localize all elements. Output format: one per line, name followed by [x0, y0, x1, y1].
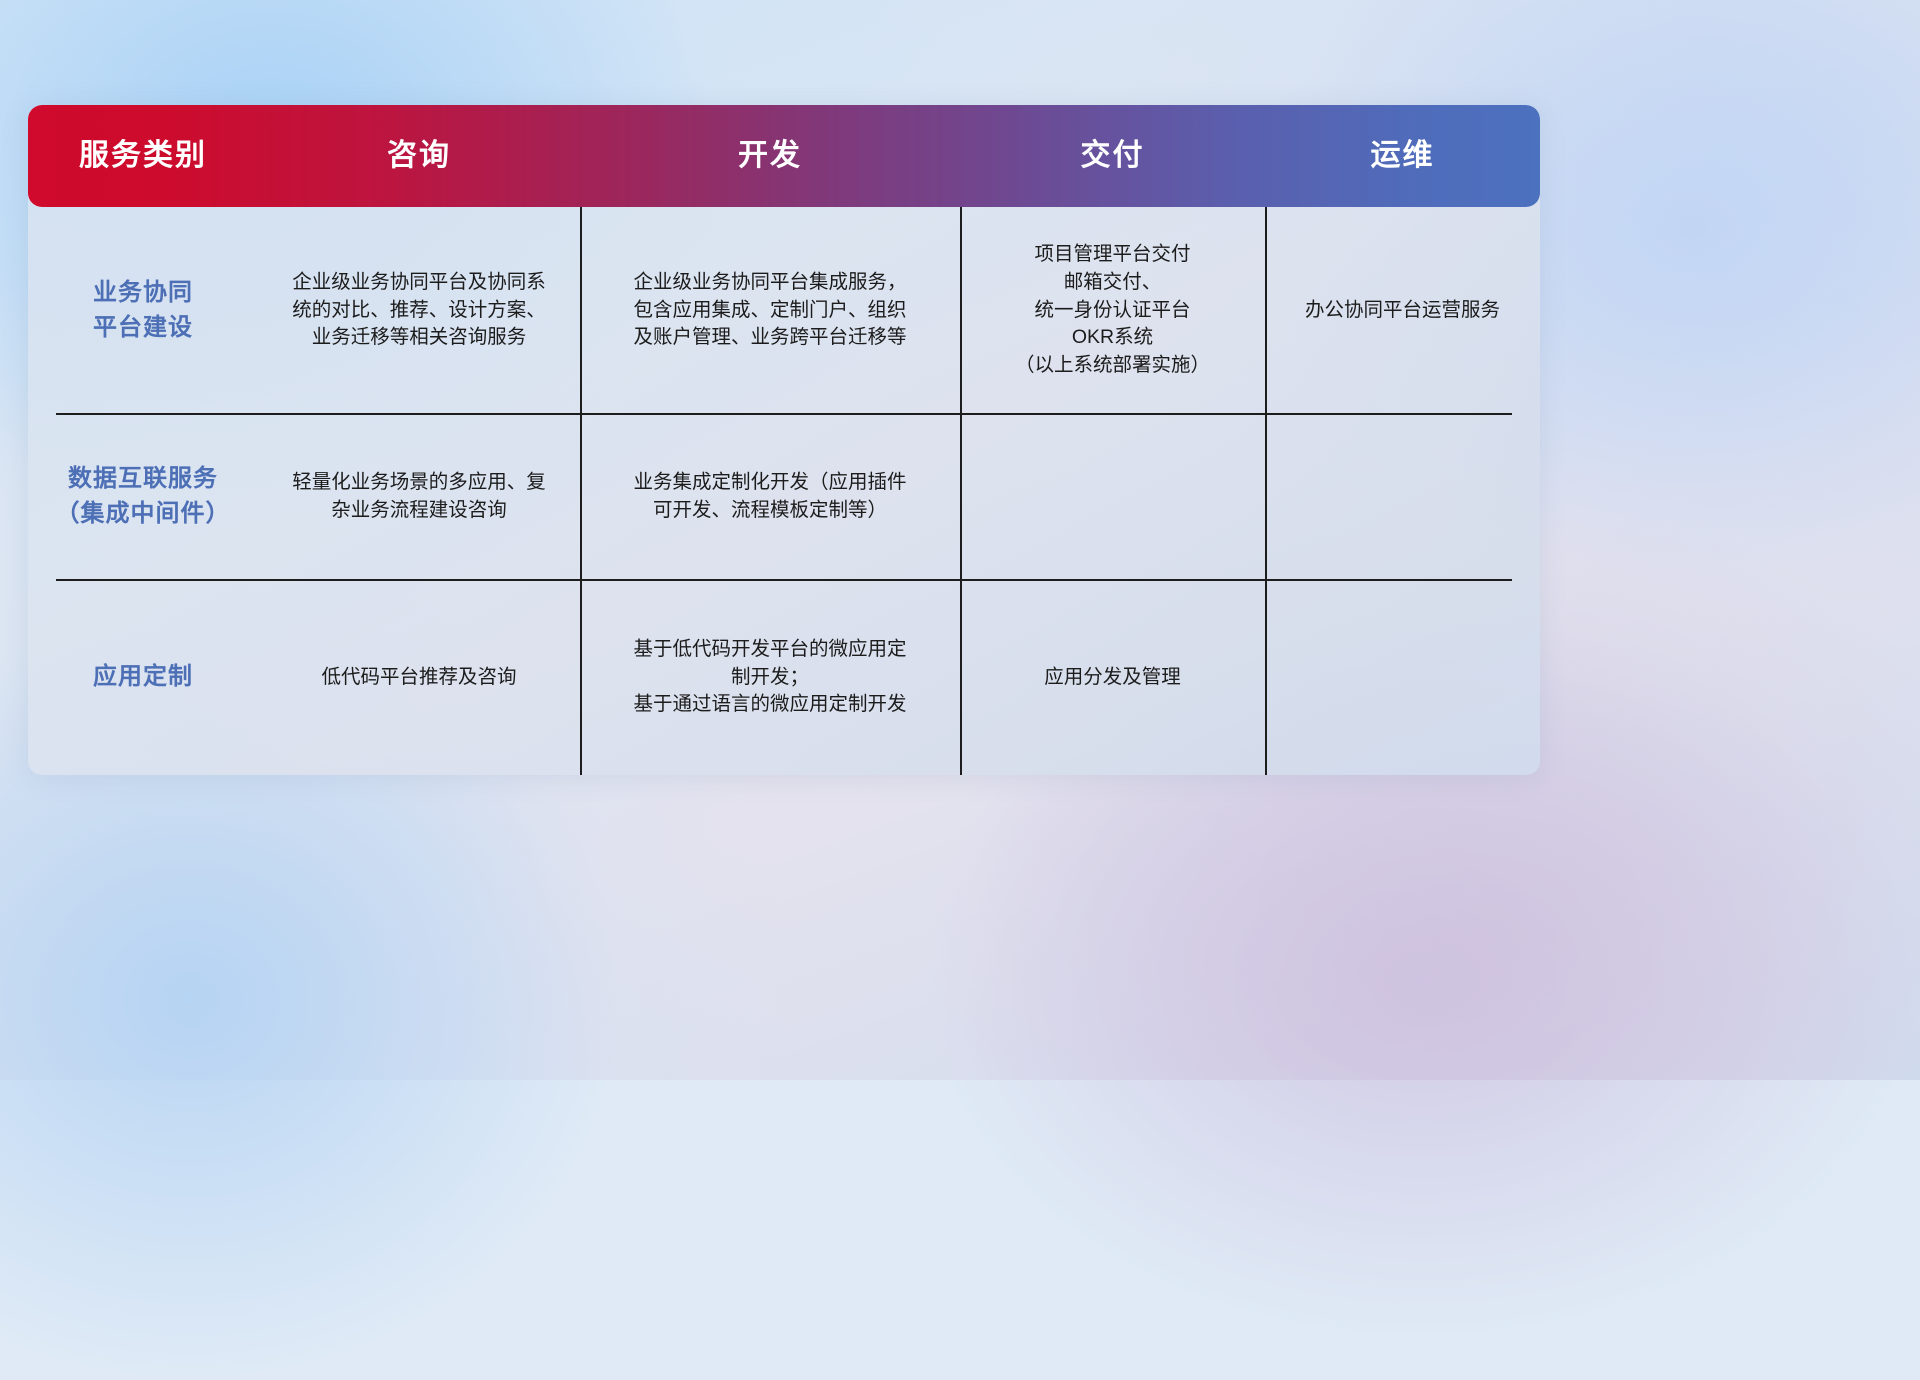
column-divider: [960, 207, 962, 775]
cell-development: 企业级业务协同平台集成服务， 包含应用集成、定制门户、组织 及账户管理、业务跨平…: [580, 207, 960, 414]
column-header-consulting: 咨询: [258, 141, 580, 171]
cell-operations: [1265, 580, 1540, 775]
column-header-delivery: 交付: [960, 141, 1265, 171]
row-divider: [56, 579, 1512, 581]
cell-delivery: [960, 414, 1265, 580]
cell-consulting: 低代码平台推荐及咨询: [258, 580, 580, 775]
cell-delivery: 应用分发及管理: [960, 580, 1265, 775]
cell-delivery: 项目管理平台交付 邮箱交付、 统一身份认证平台 OKR系统 （以上系统部署实施）: [960, 207, 1265, 414]
row-divider: [56, 413, 1512, 415]
column-header-development: 开发: [580, 141, 960, 171]
table-row: 业务协同 平台建设 企业级业务协同平台及协同系 统的对比、推荐、设计方案、 业务…: [28, 207, 1540, 414]
cell-consulting: 企业级业务协同平台及协同系 统的对比、推荐、设计方案、 业务迁移等相关咨询服务: [258, 207, 580, 414]
row-category-label: 业务协同 平台建设: [28, 207, 258, 414]
row-category-label: 数据互联服务 （集成中间件）: [28, 414, 258, 580]
table-header-row: 服务类别 咨询 开发 交付 运维: [28, 105, 1540, 207]
service-matrix-table: 服务类别 咨询 开发 交付 运维 业务协同 平台建设 企业级业务协同平台及协同系…: [28, 105, 1540, 775]
cell-consulting: 轻量化业务场景的多应用、复 杂业务流程建设咨询: [258, 414, 580, 580]
cell-operations: [1265, 414, 1540, 580]
cell-operations: 办公协同平台运营服务: [1265, 207, 1540, 414]
column-header-operations: 运维: [1265, 141, 1540, 171]
cell-development: 业务集成定制化开发（应用插件 可开发、流程模板定制等）: [580, 414, 960, 580]
column-divider: [1265, 207, 1267, 775]
row-category-label: 应用定制: [28, 580, 258, 775]
column-header-category: 服务类别: [28, 141, 258, 171]
table-row: 数据互联服务 （集成中间件） 轻量化业务场景的多应用、复 杂业务流程建设咨询 业…: [28, 414, 1540, 580]
table-body: 业务协同 平台建设 企业级业务协同平台及协同系 统的对比、推荐、设计方案、 业务…: [28, 207, 1540, 775]
cell-development: 基于低代码开发平台的微应用定 制开发； 基于通过语言的微应用定制开发: [580, 580, 960, 775]
table-row: 应用定制 低代码平台推荐及咨询 基于低代码开发平台的微应用定 制开发； 基于通过…: [28, 580, 1540, 775]
column-divider: [580, 207, 582, 775]
